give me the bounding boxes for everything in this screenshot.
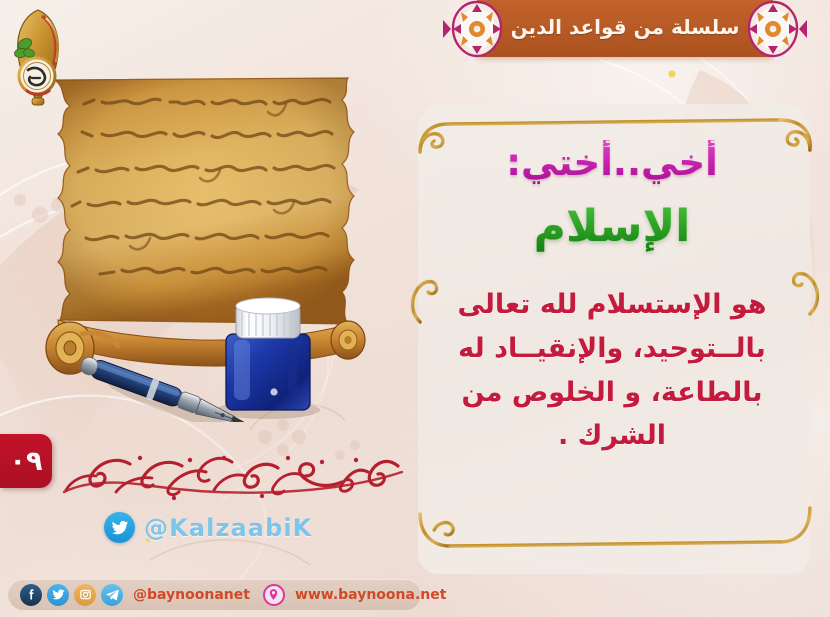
footer-bar: @baynoonanet www.baynoona.net	[8, 579, 421, 610]
twitter-handle-text: @KalzaabiK	[144, 514, 312, 542]
card-heading-secondary: الإسلام	[534, 201, 691, 253]
twitter-handle-row[interactable]: @KalzaabiK	[104, 512, 312, 543]
banner-title: سلسلة من قواعد الدين	[511, 15, 740, 42]
banner-bar: سلسلة من قواعد الدين	[477, 0, 773, 57]
issue-number-badge: ٠٩	[0, 434, 52, 488]
telegram-icon[interactable]	[101, 584, 123, 606]
parchment-scroll-scene	[30, 62, 420, 422]
twitter-bird-icon	[104, 512, 135, 543]
footer-social-handle[interactable]: @baynoonanet	[133, 587, 250, 603]
baynoona-logo	[8, 6, 70, 110]
arabesque-medallion-right-icon	[739, 0, 807, 60]
twitter-icon[interactable]	[47, 584, 69, 606]
poster-canvas: سلسلة من قواعد الدين	[0, 0, 830, 617]
footer-website-url[interactable]: www.baynoona.net	[295, 587, 446, 603]
content-card: أخي..أختي: الإسلام هو الإستسلام لله تعال…	[418, 104, 810, 574]
card-content: أخي..أختي: الإسلام هو الإستسلام لله تعال…	[418, 104, 810, 574]
issue-number: ٠٩	[10, 446, 43, 477]
card-body-text: هو الإستسلام لله تعالى بالــتوحيد، والإن…	[444, 283, 780, 458]
facebook-icon[interactable]	[20, 584, 42, 606]
card-heading-primary: أخي..أختي:	[506, 140, 718, 185]
arabesque-medallion-left-icon	[443, 0, 511, 60]
header-banner: سلسلة من قواعد الدين	[455, 0, 795, 57]
instagram-icon[interactable]	[74, 584, 96, 606]
periscope-icon[interactable]	[263, 584, 285, 606]
sheikh-signature: الشيخ خالد بن محمد الزعابي	[56, 442, 406, 504]
